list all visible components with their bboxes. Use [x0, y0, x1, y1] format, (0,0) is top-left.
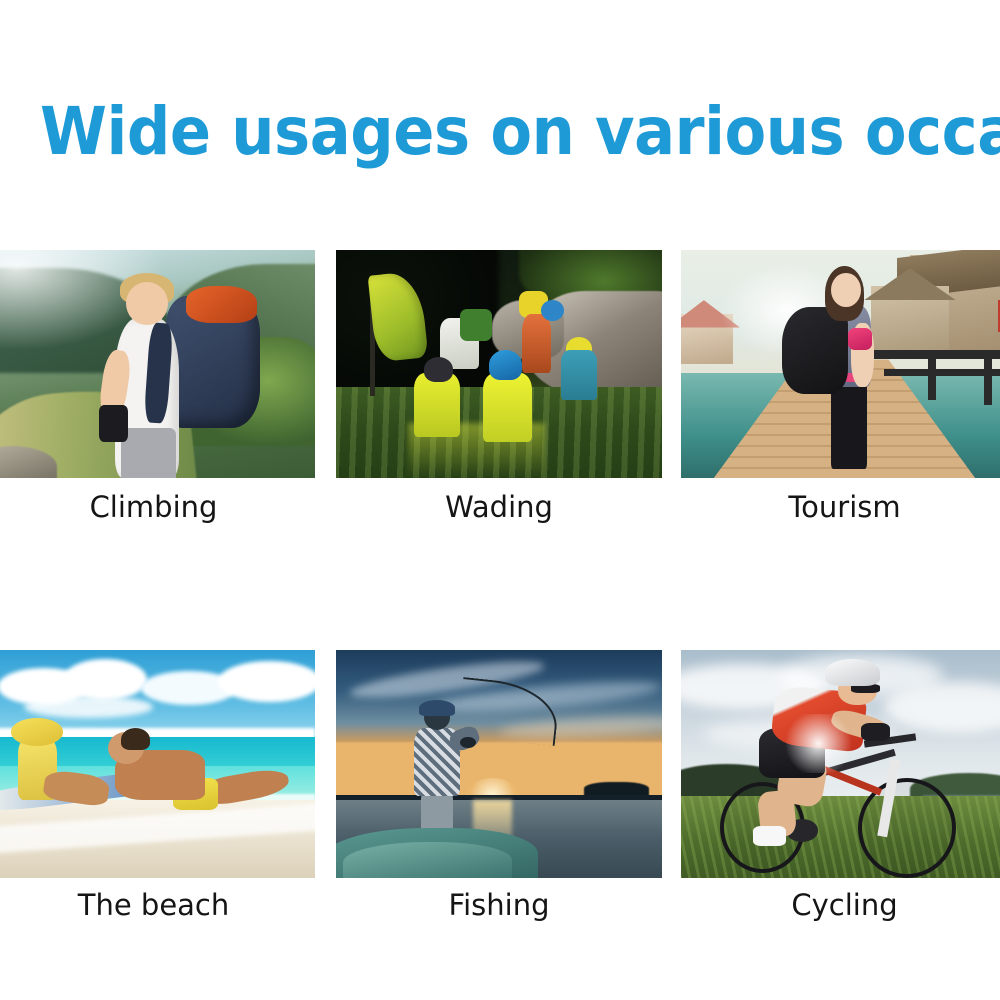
- tourism-photo[interactable]: [681, 250, 1000, 478]
- gallery-item-beach[interactable]: The beach: [0, 650, 315, 878]
- beach-scene: [0, 650, 315, 878]
- cycling-scene: [681, 650, 1000, 878]
- beach-photo[interactable]: [0, 650, 315, 878]
- caption-tourism: Tourism: [681, 490, 1000, 524]
- wading-photo[interactable]: [336, 250, 662, 478]
- wading-scene: [336, 250, 662, 478]
- caption-wading: Wading: [336, 490, 662, 524]
- fishing-scene: [336, 650, 662, 878]
- gallery-item-cycling[interactable]: Cycling: [681, 650, 1000, 878]
- gallery-item-fishing[interactable]: Fishing: [336, 650, 662, 878]
- tourism-scene: [681, 250, 1000, 478]
- gallery-row-2: The beach: [0, 650, 1000, 1000]
- gallery-item-climbing[interactable]: Climbing: [0, 250, 315, 478]
- climbing-scene: [0, 250, 315, 478]
- caption-cycling: Cycling: [681, 888, 1000, 922]
- gallery-item-tourism[interactable]: Tourism: [681, 250, 1000, 478]
- fishing-photo[interactable]: [336, 650, 662, 878]
- occasions-gallery: Climbing: [0, 250, 1000, 1000]
- product-feature-page: Wide usages on various occasions: [0, 0, 1000, 1000]
- caption-fishing: Fishing: [336, 888, 662, 922]
- cycling-photo[interactable]: [681, 650, 1000, 878]
- gallery-row-1: Climbing: [0, 250, 1000, 650]
- page-title: Wide usages on various occasions: [40, 96, 960, 168]
- gallery-item-wading[interactable]: Wading: [336, 250, 662, 478]
- climbing-photo[interactable]: [0, 250, 315, 478]
- caption-climbing: Climbing: [0, 490, 315, 524]
- caption-beach: The beach: [0, 888, 315, 922]
